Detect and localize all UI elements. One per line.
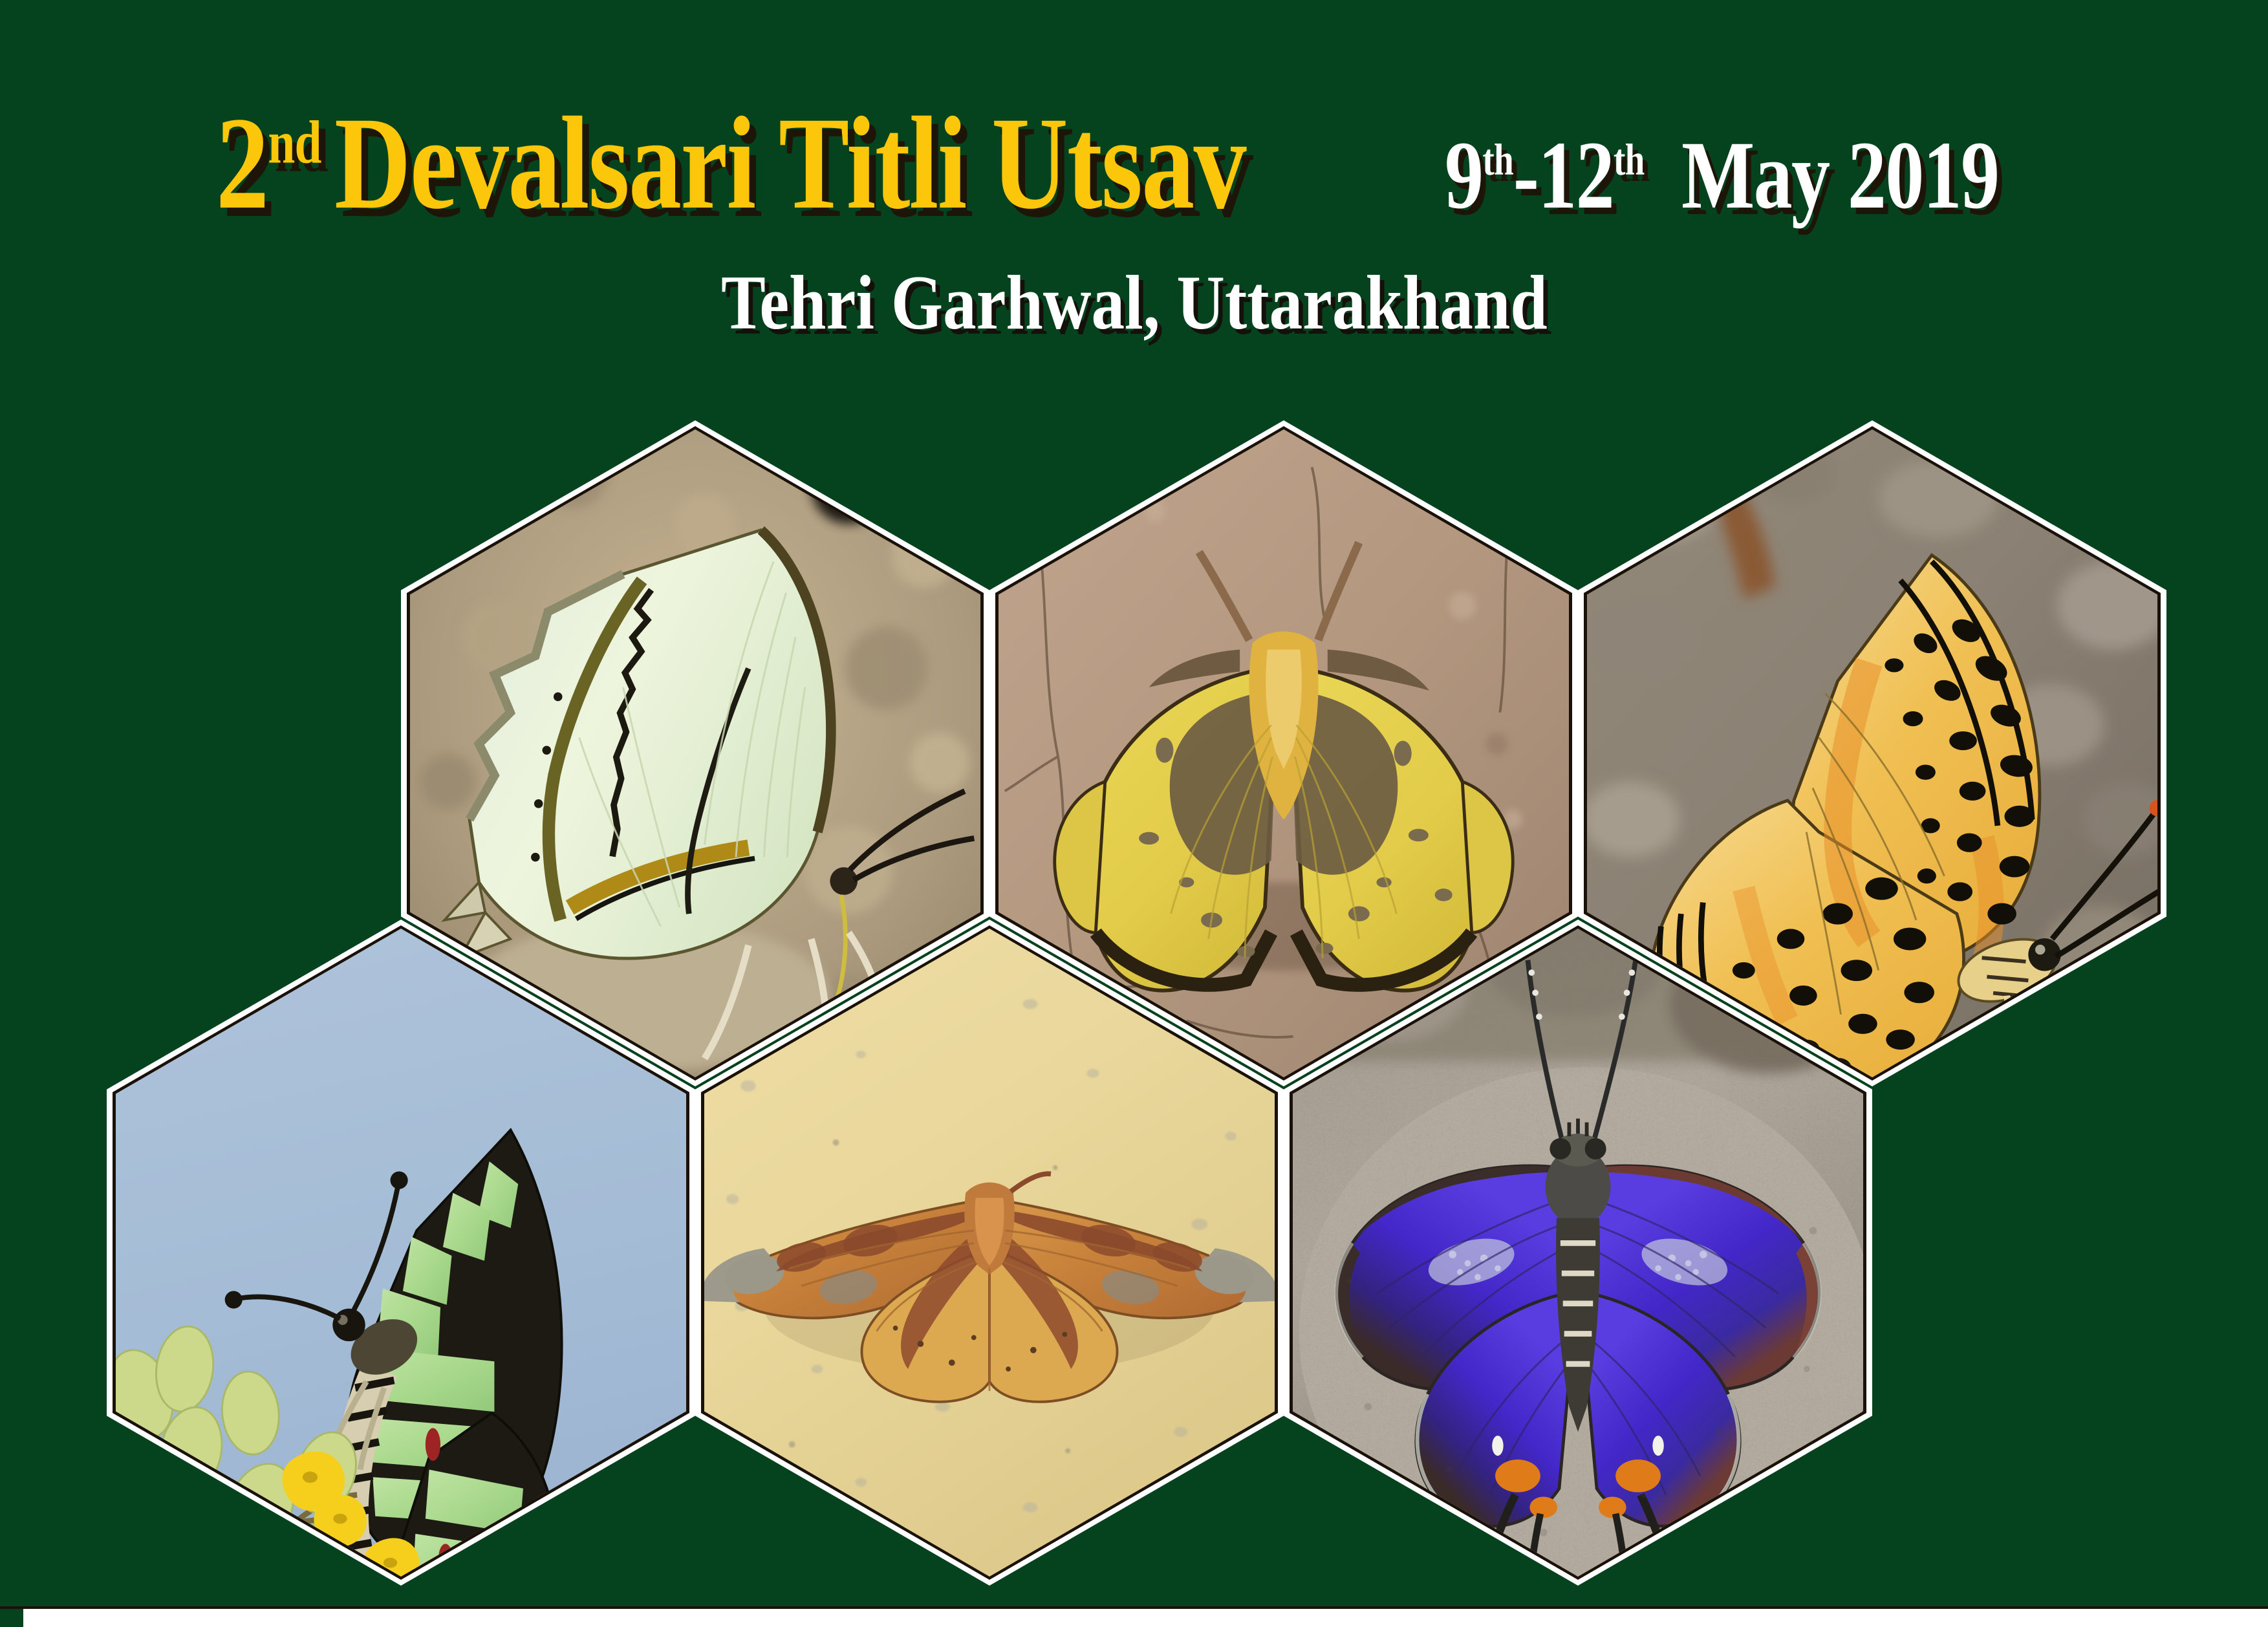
poster-canvas: 2ndDevalsari Titli Utsav9th-12thMay 2019… <box>0 0 2268 1627</box>
date-end: 12 <box>1539 122 1614 229</box>
event-location: Tehri Garhwal, Uttarakhand <box>721 264 1548 341</box>
bottom-strip-left-notch <box>0 1609 23 1627</box>
date-end-suffix: th <box>1614 135 1645 184</box>
event-title-line: 2ndDevalsari Titli Utsav9th-12thMay 2019 <box>0 97 2268 230</box>
date-separator: - <box>1513 122 1538 229</box>
edition-ordinal: 2nd <box>216 97 321 230</box>
edition-number: 2 <box>216 90 268 237</box>
event-month-year: May 2019 <box>1681 127 1998 224</box>
event-name: Devalsari Titli Utsav <box>334 97 1246 230</box>
event-date-range: 9th-12th <box>1445 127 1645 224</box>
event-location-line: Tehri Garhwal, Uttarakhand <box>0 264 2268 341</box>
bottom-white-strip <box>0 1606 2268 1627</box>
date-start: 9 <box>1445 122 1482 229</box>
edition-suffix: nd <box>268 109 321 177</box>
poster-header: 2ndDevalsari Titli Utsav9th-12thMay 2019… <box>0 0 2268 388</box>
date-start-suffix: th <box>1483 135 1513 184</box>
